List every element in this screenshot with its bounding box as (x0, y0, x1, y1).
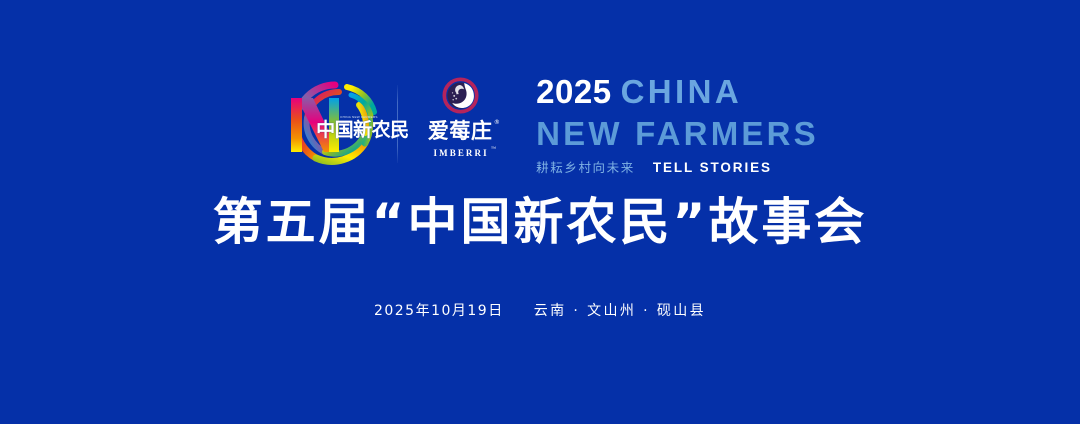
wordmark-slogan-english: TELL STORIES (653, 161, 772, 175)
logo-lockup: CHINA NEW FARMERS 中国新农民 (0, 72, 1080, 176)
trademark-symbol: ™ (491, 147, 496, 152)
wordmark-slogan-row: 耕耘乡村向未来 TELL STORIES (536, 161, 772, 175)
event-date: 2025年10月19日 (374, 304, 504, 318)
wordmark-new-farmers: NEW FARMERS (536, 117, 819, 150)
wordmark-slogan-chinese: 耕耘乡村向未来 (536, 162, 635, 175)
imberri-chinese-name: 爱莓庄® (428, 121, 493, 142)
imberri-latin-name: IMBERRI™ (432, 149, 489, 158)
registered-trademark-symbol: ® (494, 120, 501, 126)
wordmark-china: CHINA (621, 73, 743, 110)
strawberry-circle-emblem-icon (442, 77, 479, 114)
page-title: 第五届“中国新农民”故事会 (0, 192, 1080, 252)
event-location: 云南 · 文山州 · 砚山县 (534, 304, 706, 318)
event-banner: CHINA NEW FARMERS 中国新农民 (0, 0, 1080, 424)
wordmark-line-one: 2025CHINA (536, 75, 742, 108)
event-wordmark: 2025CHINA NEW FARMERS 耕耘乡村向未来 TELL STORI… (536, 73, 819, 175)
china-new-farmers-logo: CHINA NEW FARMERS 中国新农民 (261, 76, 389, 172)
rainbow-ring-graphic: CHINA NEW FARMERS 中国新农民 (289, 78, 381, 170)
logo-chinese-name: 中国新农民 (316, 121, 402, 140)
imberri-logo: 爱莓庄® IMBERRI™ (414, 75, 506, 173)
wordmark-year: 2025 (536, 73, 611, 110)
china-new-farmers-nameplate: CHINA NEW FARMERS 中国新农民 (316, 114, 402, 142)
imberri-latin-name-text: IMBERRI (434, 148, 489, 158)
event-meta-line: 2025年10月19日 云南 · 文山州 · 砚山县 (0, 304, 1080, 318)
imberri-chinese-name-text: 爱莓庄 (428, 119, 493, 143)
